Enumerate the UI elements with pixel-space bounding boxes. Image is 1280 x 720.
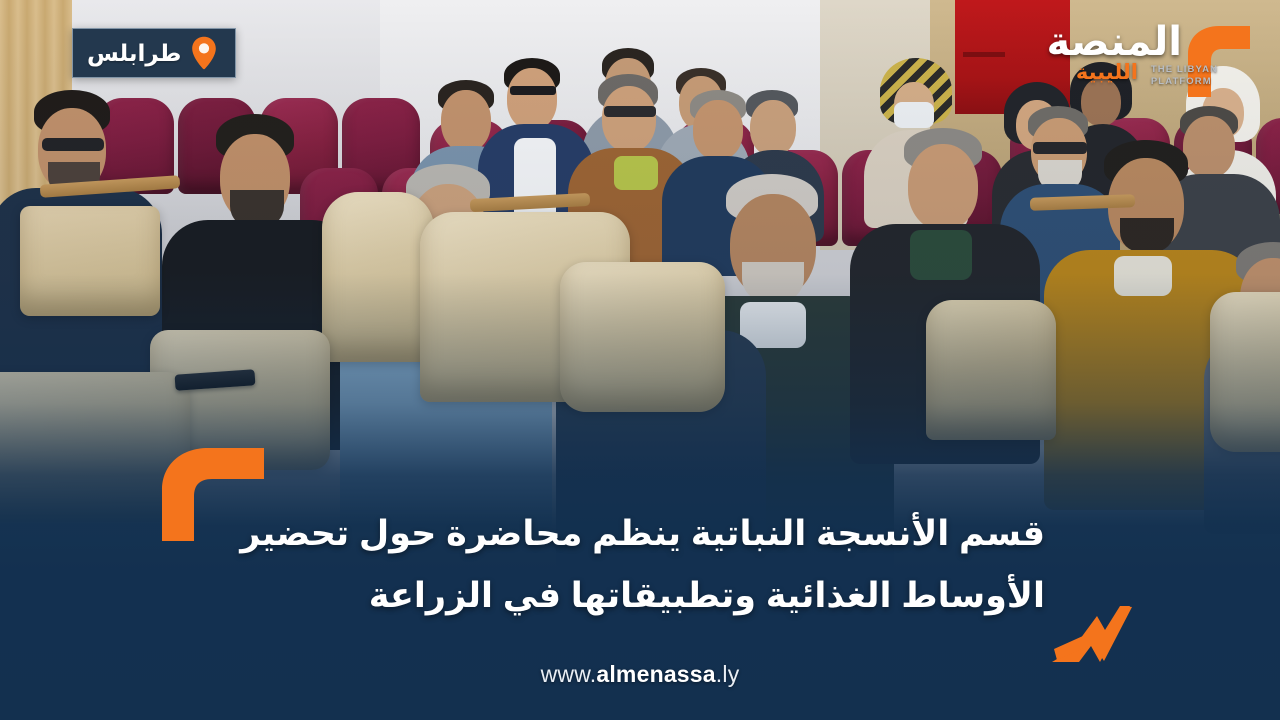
headline-line-1: قسم الأنسجة النباتية ينظم محاضرة حول تحض… xyxy=(225,503,1045,565)
logo-english-line2: PLATFORM xyxy=(1151,76,1212,87)
map-pin-icon xyxy=(191,36,217,70)
website-url[interactable]: www.almenassa.ly xyxy=(0,663,1280,686)
url-prefix: www. xyxy=(541,661,597,687)
logo-arabic-secondary: الليبية xyxy=(1076,62,1138,83)
location-badge: طرابلس xyxy=(72,28,236,78)
orange-lam-mark-icon xyxy=(1048,604,1134,671)
location-label: طرابلس xyxy=(87,42,181,65)
logo-arabic-primary: المنصة xyxy=(1046,22,1182,62)
social-media-card: طرابلس المنصة الليبية THE LIBYAN PLATFOR… xyxy=(0,0,1280,720)
brand-logo: المنصة الليبية THE LIBYAN PLATFORM xyxy=(1041,20,1256,112)
headline-line-2: الأوساط الغذائية وتطبيقاتها في الزراعة xyxy=(225,565,1045,627)
logo-english-tagline: THE LIBYAN PLATFORM xyxy=(1151,64,1218,88)
url-suffix: .ly xyxy=(716,661,740,687)
logo-english-line1: THE LIBYAN xyxy=(1151,64,1218,75)
url-brand: almenassa xyxy=(596,661,715,687)
headline: قسم الأنسجة النباتية ينظم محاضرة حول تحض… xyxy=(225,503,1045,627)
